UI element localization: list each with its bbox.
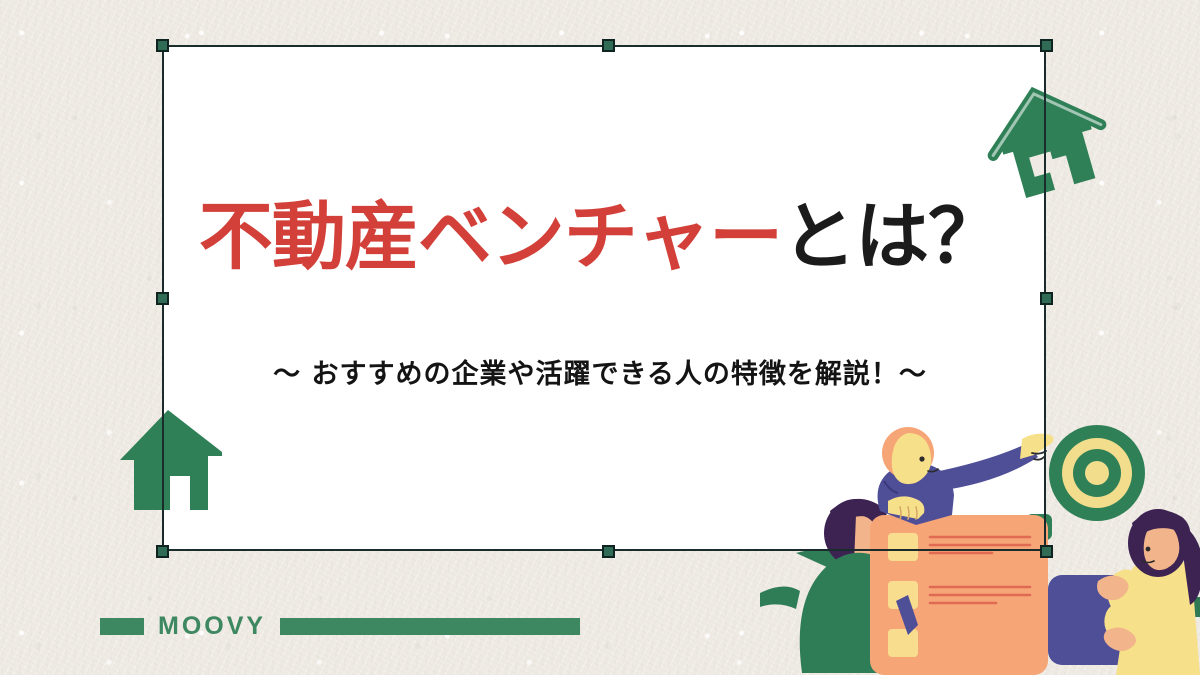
logo-bar-right bbox=[280, 618, 580, 635]
title-red-part: 不動産ベンチャー bbox=[199, 194, 782, 280]
resize-handle-bottom-left[interactable] bbox=[156, 545, 169, 558]
page-subtitle: ～ おすすめの企業や活躍できる人の特徴を解説！～ bbox=[0, 352, 1200, 391]
slide-stage: 不動産ベンチャーとは？ ～ おすすめの企業や活躍できる人の特徴を解説！～ MOO… bbox=[0, 0, 1200, 675]
logo-bar-left bbox=[100, 618, 144, 635]
brand-logo-text: MOOVY bbox=[158, 614, 266, 639]
page-title: 不動産ベンチャーとは？ bbox=[0, 200, 1200, 274]
resize-handle-top-left[interactable] bbox=[156, 39, 169, 52]
resize-handle-bottom-center[interactable] bbox=[602, 545, 615, 558]
resize-handle-middle-left[interactable] bbox=[156, 292, 169, 305]
selection-frame[interactable] bbox=[162, 45, 1046, 551]
title-black-part: とは？ bbox=[782, 194, 1001, 280]
resize-handle-middle-right[interactable] bbox=[1040, 292, 1053, 305]
resize-handle-top-center[interactable] bbox=[602, 39, 615, 52]
resize-handle-top-right[interactable] bbox=[1040, 39, 1053, 52]
footer-logo-group: MOOVY bbox=[100, 614, 580, 639]
resize-handle-bottom-right[interactable] bbox=[1040, 545, 1053, 558]
